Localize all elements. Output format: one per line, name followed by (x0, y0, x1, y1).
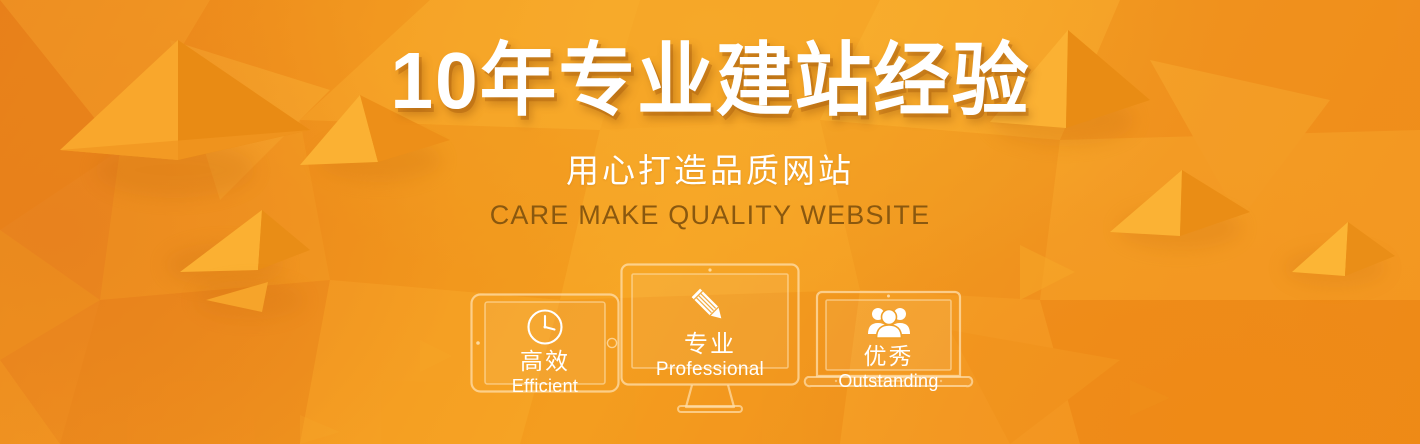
tablet-outline-icon (470, 293, 620, 393)
promo-banner: 10年专业建站经验 用心打造品质网站 CARE MAKE QUALITY WEB… (0, 0, 1420, 444)
banner-subtitle-chinese: 用心打造品质网站 (0, 150, 1420, 192)
banner-subtitle-english: CARE MAKE QUALITY WEBSITE (0, 199, 1420, 231)
subtitle-container: 用心打造品质网站 CARE MAKE QUALITY WEBSITE (0, 150, 1420, 231)
banner-headline: 10年专业建站经验 (390, 38, 1030, 124)
feature-card-monitor: 专业 Professional (620, 263, 800, 415)
feature-card-tablet: 高效 Efficient (470, 293, 620, 393)
laptop-outline-icon (806, 290, 971, 395)
headline-container: 10年专业建站经验 (0, 38, 1420, 124)
feature-card-laptop: 优秀 Outstanding (806, 290, 971, 395)
monitor-outline-icon (620, 263, 800, 415)
feature-devices-row: 高效 Efficient (0, 250, 1420, 415)
